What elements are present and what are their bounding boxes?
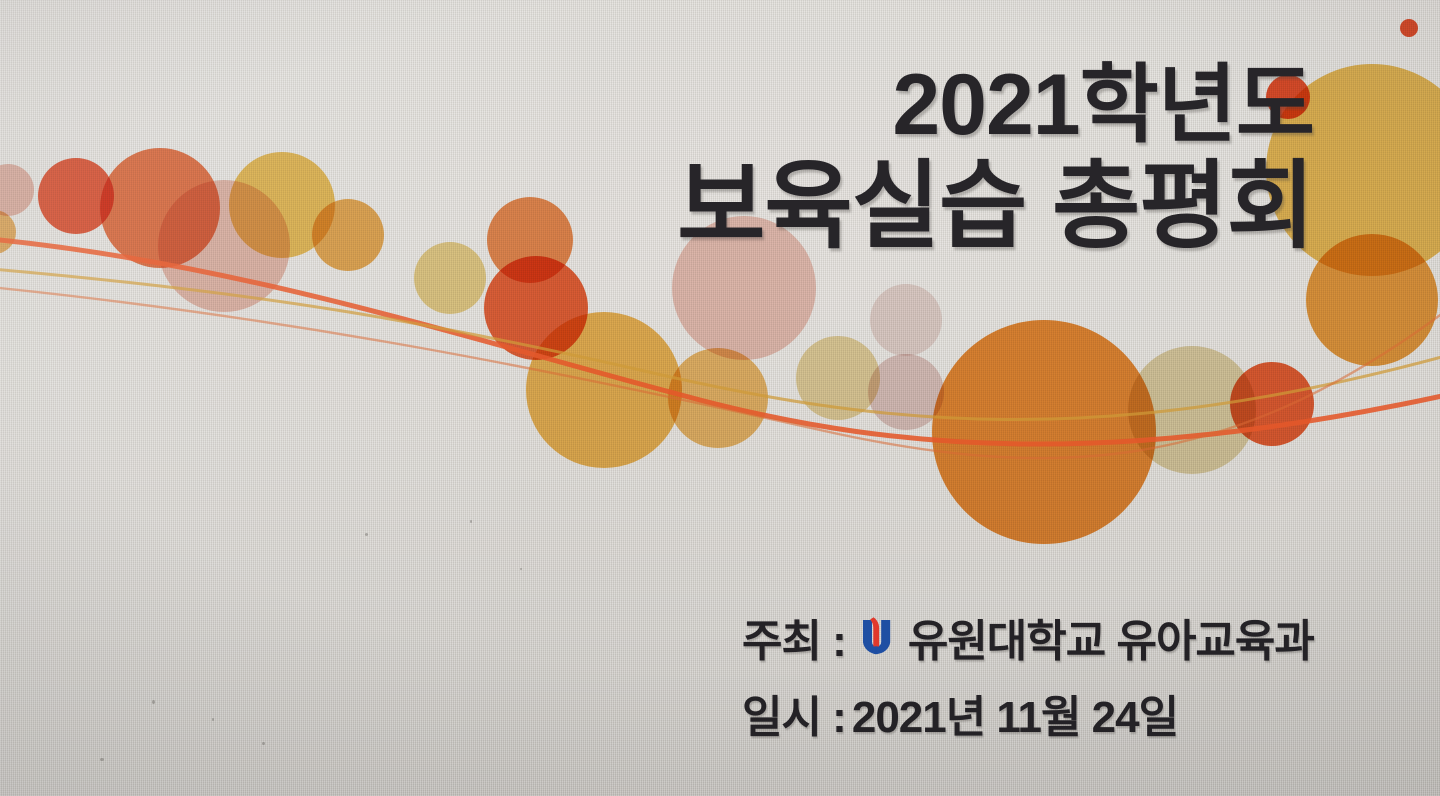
- host-label: 주최 :: [742, 605, 846, 669]
- date-label: 일시 :: [742, 681, 846, 745]
- fabric-speck: [262, 742, 265, 745]
- date-line: 일시 : 2021년 11월 24일: [742, 681, 1314, 745]
- fabric-speck: [100, 758, 104, 761]
- fabric-speck: [470, 520, 472, 523]
- banner-info-block: 주최 : 유원대학교 유아교육과 일시 : 2021년 11월 24일: [742, 605, 1314, 745]
- fabric-speck: [520, 568, 522, 570]
- fabric-speck: [212, 718, 214, 721]
- title-line-1: 2021학년도: [677, 62, 1314, 150]
- fabric-speck: [365, 533, 368, 536]
- banner-photo: 2021학년도 보육실습 총평회 주최 : 유원대학교 유아교육과 일시 : 2…: [0, 0, 1440, 796]
- host-value: 유원대학교 유아교육과: [908, 605, 1314, 669]
- fabric-speck: [152, 700, 155, 704]
- uwon-university-logo-icon: [856, 614, 896, 660]
- host-line: 주최 : 유원대학교 유아교육과: [742, 605, 1314, 669]
- banner-title-block: 2021학년도 보육실습 총평회: [677, 62, 1314, 256]
- curve-yellow-secondary: [0, 268, 1440, 420]
- title-line-2: 보육실습 총평회: [677, 158, 1314, 256]
- date-value: 2021년 11월 24일: [852, 681, 1178, 745]
- curve-orange-main: [0, 238, 1440, 444]
